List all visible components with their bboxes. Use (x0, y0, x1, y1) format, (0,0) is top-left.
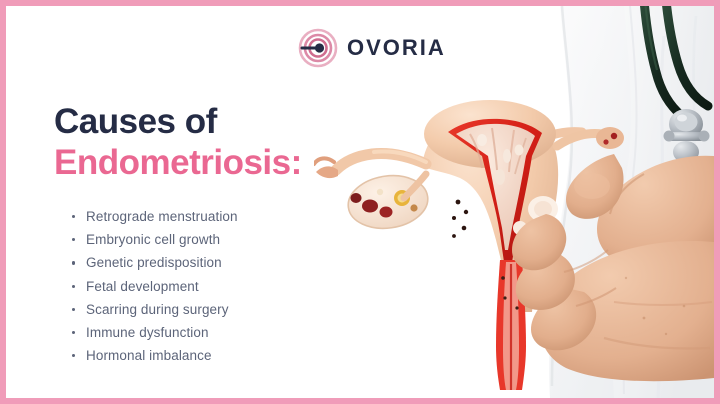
list-item: Retrograde menstruation (72, 205, 238, 228)
bullet-dot-icon (72, 331, 75, 334)
list-item: Embryonic cell growth (72, 228, 238, 251)
list-item-label: Hormonal imbalance (86, 348, 212, 363)
list-item: Fetal development (72, 275, 238, 298)
bullet-dot-icon (72, 215, 75, 218)
bullet-dot-icon (72, 285, 75, 288)
frame-border-right (714, 0, 720, 404)
bullet-dot-icon (72, 238, 75, 241)
frame-border-top (0, 0, 720, 6)
list-item: Genetic predisposition (72, 251, 238, 274)
spiral-target-icon (298, 28, 338, 68)
brand-wordmark: OVORIA (347, 35, 446, 61)
title-line-primary: Causes of (54, 102, 302, 143)
bullet-dot-icon (72, 261, 75, 264)
brand-logo[interactable]: OVORIA (298, 28, 446, 68)
list-item: Hormonal imbalance (72, 344, 238, 367)
slide-inner: OVORIA Causes of Endometriosis: Retrogra… (6, 6, 714, 398)
list-item-label: Retrograde menstruation (86, 209, 238, 224)
frame-border-bottom (0, 398, 720, 404)
causes-list: Retrograde menstruation Embryonic cell g… (72, 205, 238, 367)
list-item-label: Scarring during surgery (86, 302, 229, 317)
frame-border-left (0, 0, 6, 404)
list-item-label: Fetal development (86, 279, 199, 294)
page-title: Causes of Endometriosis: (54, 102, 302, 183)
list-item-label: Embryonic cell growth (86, 232, 220, 247)
list-item-label: Genetic predisposition (86, 255, 222, 270)
bullet-dot-icon (72, 354, 75, 357)
bullet-dot-icon (72, 308, 75, 311)
slide-canvas: OVORIA Causes of Endometriosis: Retrogra… (0, 0, 720, 404)
list-item-label: Immune dysfunction (86, 325, 209, 340)
list-item: Immune dysfunction (72, 321, 238, 344)
title-line-accent: Endometriosis: (54, 143, 302, 184)
list-item: Scarring during surgery (72, 298, 238, 321)
